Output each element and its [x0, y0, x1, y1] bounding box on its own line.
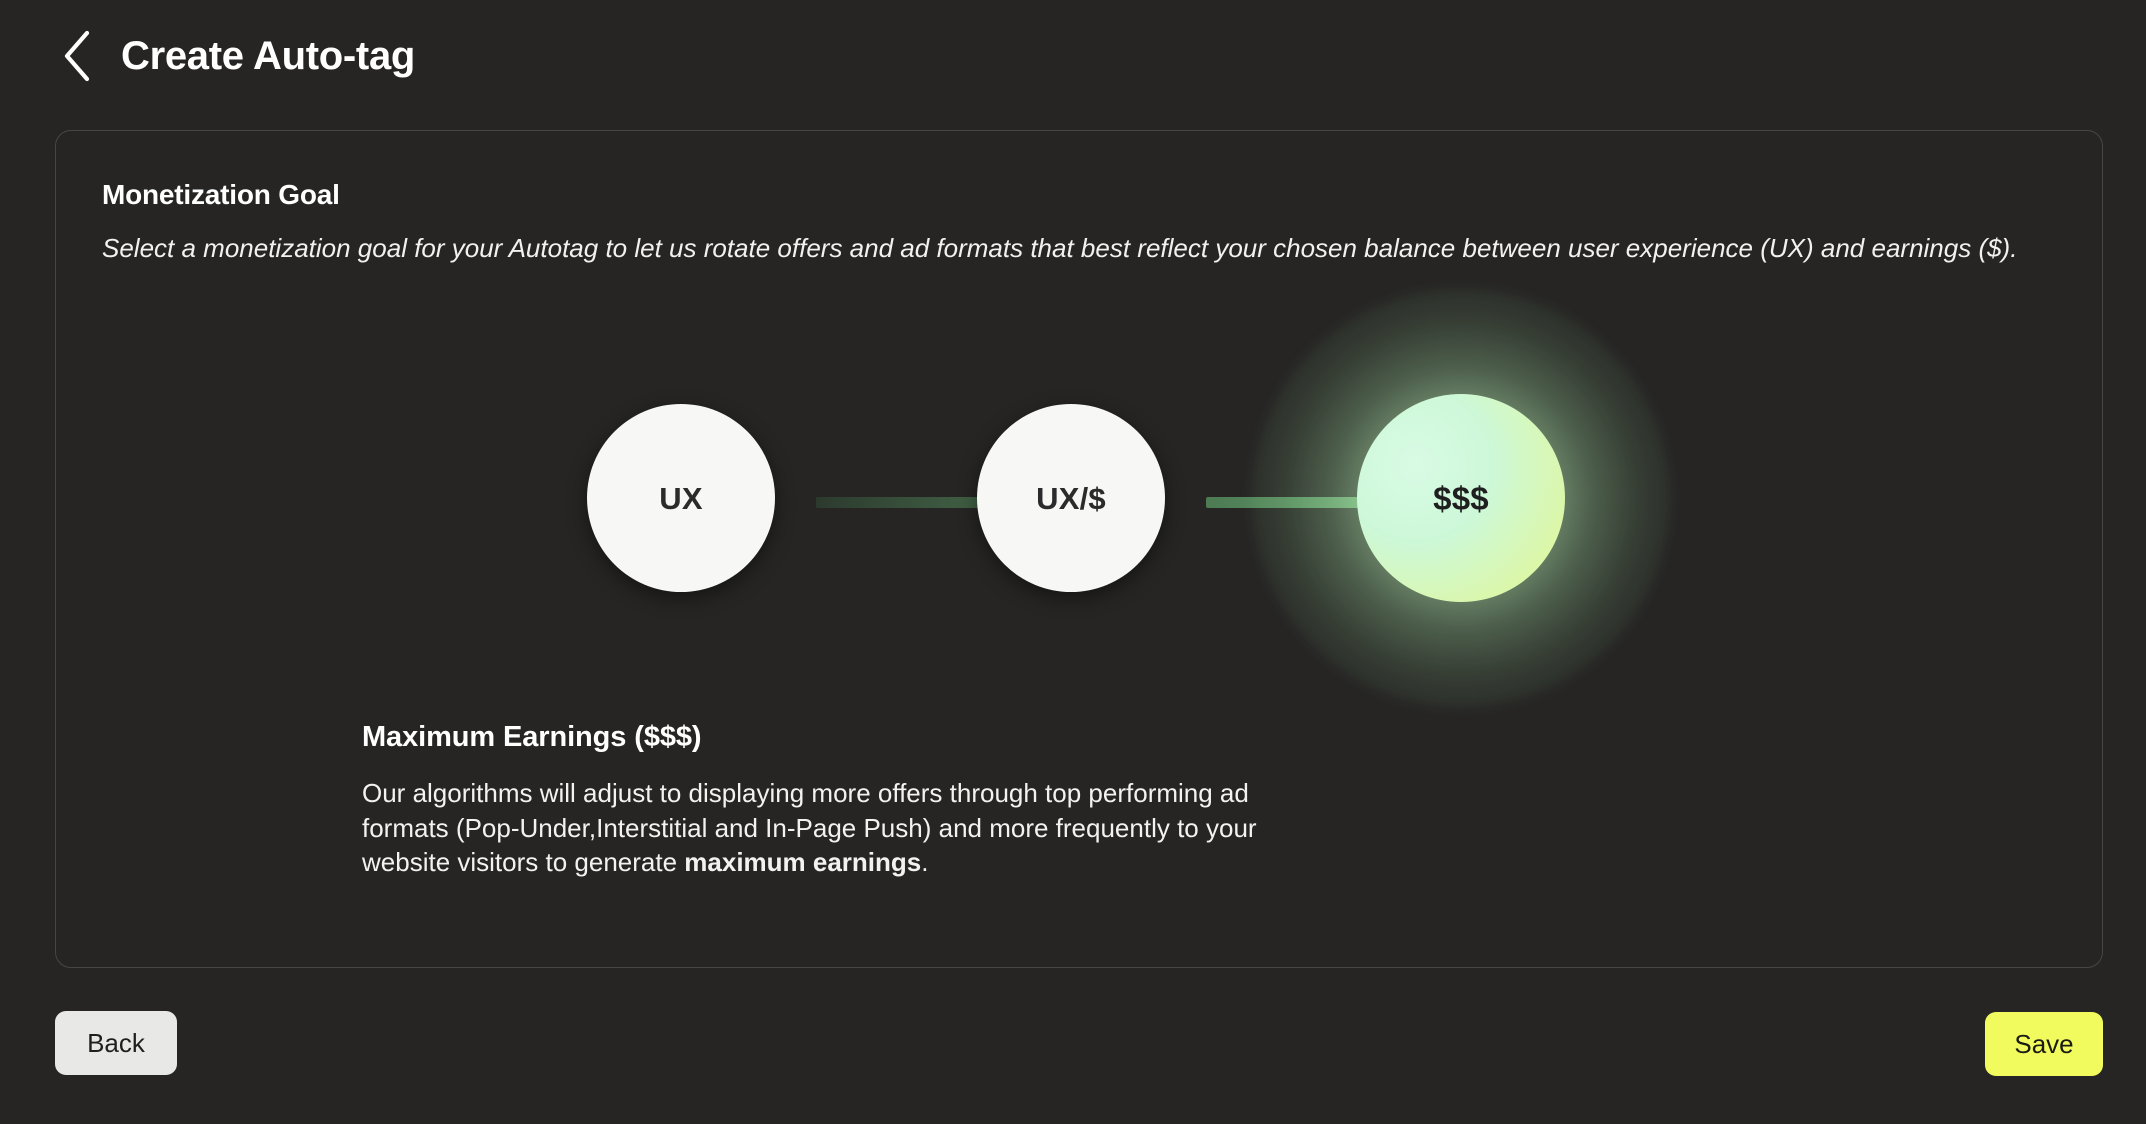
stepper-node-ux[interactable]: UX: [536, 353, 826, 643]
goal-detail-body-tail: .: [921, 847, 928, 877]
chevron-left-icon[interactable]: [55, 27, 99, 85]
monetization-goal-card: Monetization Goal Select a monetization …: [55, 130, 2103, 968]
stepper-node-ux-dollar-circle: UX/$: [977, 404, 1165, 592]
stepper-node-max-earnings-label: $$$: [1433, 482, 1489, 515]
page-header: Create Auto-tag: [55, 20, 415, 92]
stepper-node-max-earnings-circle: $$$: [1357, 394, 1565, 602]
goal-detail-title: Maximum Earnings ($$$): [362, 721, 1262, 754]
save-button[interactable]: Save: [1985, 1012, 2103, 1076]
stepper-node-max-earnings[interactable]: $$$: [1316, 353, 1606, 643]
goal-detail-emphasis: maximum earnings: [684, 847, 921, 877]
back-button[interactable]: Back: [55, 1011, 177, 1075]
stepper-node-ux-dollar[interactable]: UX/$: [926, 353, 1216, 643]
card-description: Select a monetization goal for your Auto…: [102, 231, 2068, 265]
card-title: Monetization Goal: [102, 179, 340, 211]
monetization-goal-stepper: UX UX/$ $$$: [56, 353, 2104, 653]
goal-detail: Maximum Earnings ($$$) Our algorithms wi…: [362, 721, 1262, 880]
stepper-node-ux-label: UX: [659, 483, 702, 514]
app-root: Create Auto-tag Monetization Goal Select…: [0, 0, 2146, 1124]
stepper-node-ux-dollar-label: UX/$: [1036, 483, 1106, 514]
goal-detail-body: Our algorithms will adjust to displaying…: [362, 776, 1262, 880]
stepper-node-ux-circle: UX: [587, 404, 775, 592]
page-title: Create Auto-tag: [121, 36, 415, 76]
